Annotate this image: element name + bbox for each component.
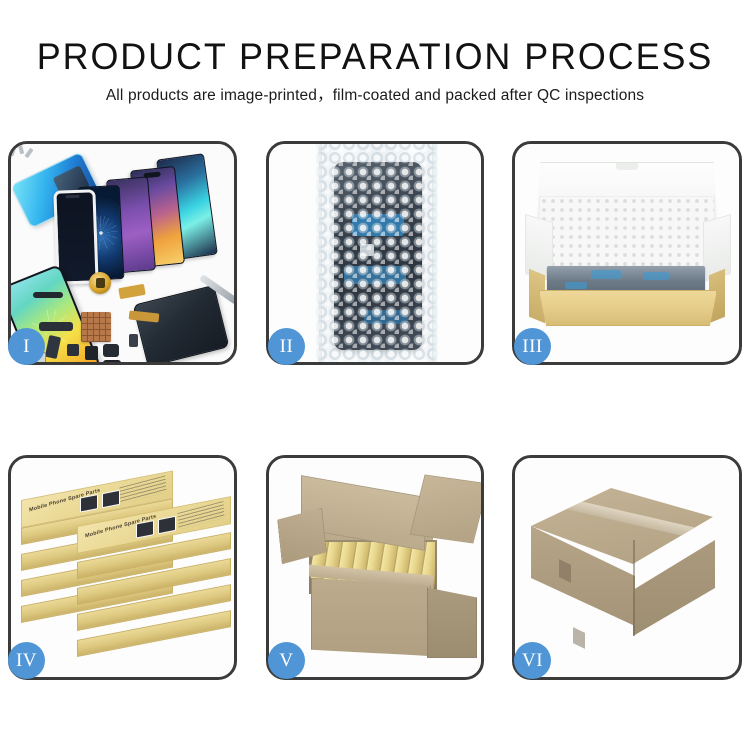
step-panel-iv[interactable]: Mobile Phone Spare Parts Mobile Phone Sp… <box>8 455 237 680</box>
process-step-grid: I II <box>0 0 750 750</box>
product-preparation-page: PRODUCT PREPARATION PROCESS All products… <box>0 0 750 750</box>
step-badge-vi: VI <box>514 642 551 679</box>
flex-cable-part-3 <box>39 322 73 331</box>
content-blue-mark-3 <box>565 282 587 289</box>
wrap-edge-left <box>315 144 322 362</box>
phone-back-housing <box>133 285 230 362</box>
lid-spec-lines-left <box>119 475 166 504</box>
flex-cable-part-1 <box>118 284 146 299</box>
step-badge-i: I <box>8 328 45 365</box>
flex-cable-part-2 <box>129 310 160 322</box>
content-blue-mark-2 <box>643 272 669 280</box>
lid-spec-lines-right <box>177 501 224 530</box>
step-panel-iii[interactable] <box>512 141 742 365</box>
speaker-part <box>33 292 63 298</box>
step-ii-image <box>269 144 481 362</box>
earpiece-icon <box>66 195 80 198</box>
step-panel-vi[interactable] <box>512 455 742 680</box>
content-blue-mark-1 <box>591 270 621 279</box>
lid-screen-image-4 <box>158 516 176 534</box>
step-iv-image: Mobile Phone Spare Parts Mobile Phone Sp… <box>11 458 234 677</box>
lid-screen-image-1 <box>80 494 98 512</box>
screws-group <box>11 144 35 162</box>
step-vi-image <box>515 458 739 677</box>
lid-screen-image-2 <box>102 490 120 508</box>
step-panel-ii[interactable] <box>266 141 484 365</box>
box-front-panel <box>539 290 717 326</box>
step-iii-image <box>515 144 739 362</box>
step-v-image <box>269 458 481 677</box>
small-component-4 <box>103 360 121 362</box>
step-badge-v: V <box>268 642 305 679</box>
vibration-motor-part <box>89 272 111 294</box>
copper-shield-part <box>81 312 111 342</box>
step-badge-iv: IV <box>8 642 45 679</box>
step-badge-iii: III <box>514 328 551 365</box>
wrap-edge-right <box>432 144 439 362</box>
carton-vertical-edge <box>633 540 635 636</box>
carton-side-face <box>427 586 477 658</box>
small-component-1 <box>67 344 79 356</box>
carton-seam-lower <box>573 627 585 649</box>
small-component-2 <box>85 346 98 360</box>
carton-front-face <box>311 578 431 656</box>
step-panel-i[interactable] <box>8 141 237 365</box>
bubble-texture <box>315 144 439 362</box>
lid-screen-image-3 <box>136 520 154 538</box>
carton-flap-right <box>410 474 481 543</box>
step-badge-ii: II <box>268 328 305 365</box>
small-component-5 <box>129 334 138 347</box>
step-i-image <box>11 144 234 362</box>
small-component-3 <box>103 344 119 357</box>
